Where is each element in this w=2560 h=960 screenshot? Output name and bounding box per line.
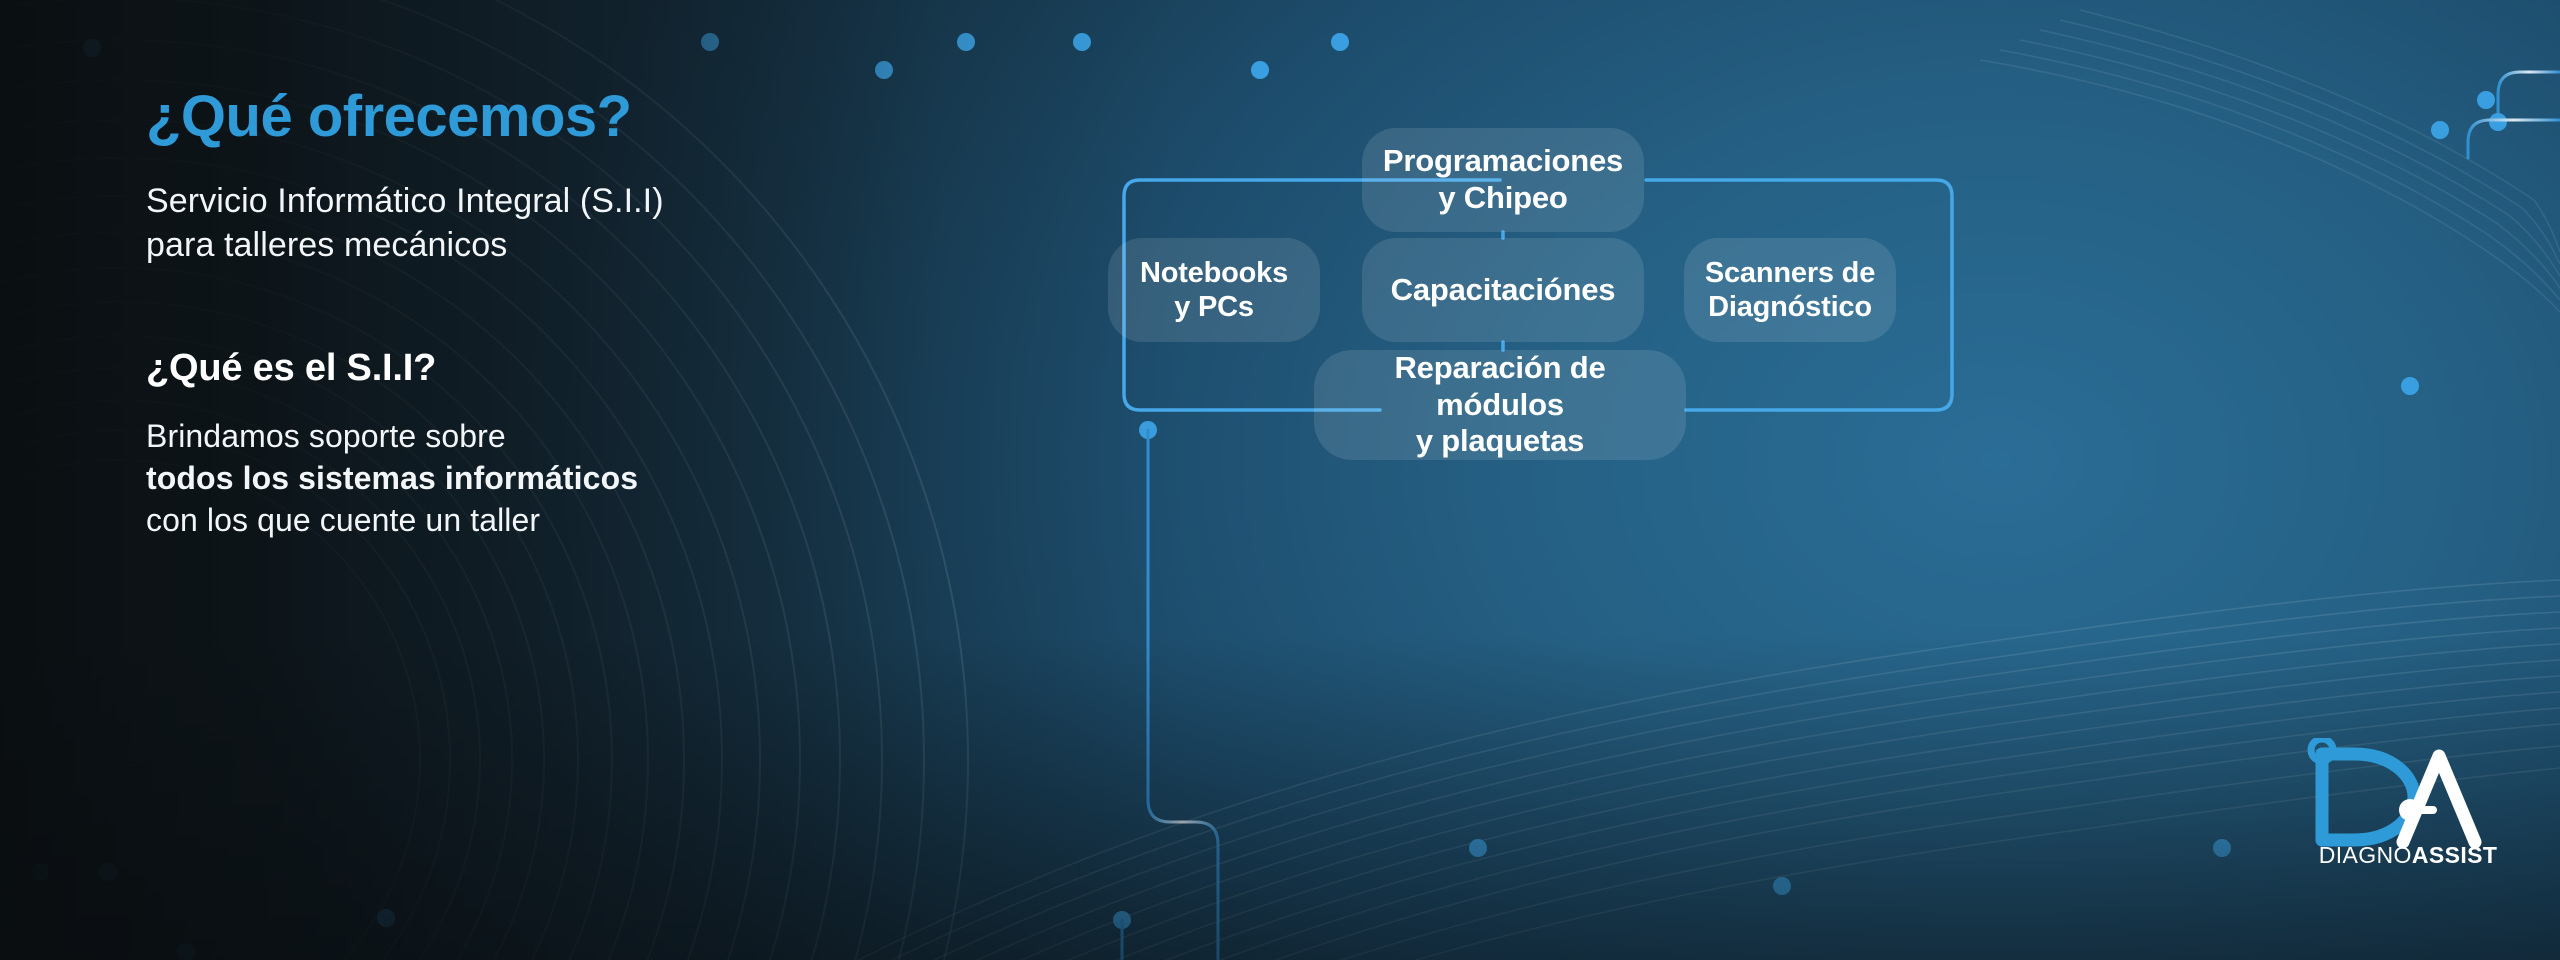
logo-wordmark-bold: ASSIST — [2412, 842, 2497, 868]
service-card-programaciones[interactable]: Programacionesy Chipeo — [1362, 128, 1644, 232]
service-card-label: Capacitaciónes — [1391, 272, 1616, 309]
body-line-3: con los que cuente un taller — [146, 502, 540, 538]
banner-canvas: ¿Qué ofrecemos? Servicio Informático Int… — [0, 0, 2560, 960]
logo-wordmark: DIAGNOASSIST — [2300, 842, 2516, 869]
service-card-label: Reparación de módulosy plaquetas — [1332, 350, 1668, 460]
heading-what-is-sii: ¿Qué es el S.I.I? — [146, 349, 886, 389]
copy-block: ¿Qué ofrecemos? Servicio Informático Int… — [146, 88, 886, 542]
services-diagram: Programacionesy Chipeo Notebooksy PCs Ca… — [1080, 110, 2500, 490]
service-card-notebooks[interactable]: Notebooksy PCs — [1108, 238, 1320, 342]
logo-mark-da-icon — [2300, 738, 2516, 848]
service-card-label: Programacionesy Chipeo — [1383, 143, 1623, 216]
body-line-1: Brindamos soporte sobre — [146, 418, 506, 454]
wave-texture-decoration — [820, 580, 2560, 960]
service-card-label: Scanners deDiagnóstico — [1705, 256, 1875, 324]
diagnoassist-logo: DIAGNOASSIST — [2300, 738, 2516, 888]
lead-paragraph: Servicio Informático Integral (S.I.I) pa… — [146, 180, 886, 267]
service-card-capacitaciones[interactable]: Capacitaciónes — [1362, 238, 1644, 342]
service-card-scanners[interactable]: Scanners deDiagnóstico — [1684, 238, 1896, 342]
logo-wordmark-light: DIAGNO — [2319, 842, 2412, 868]
body-paragraph: Brindamos soporte sobre todos los sistem… — [146, 415, 886, 542]
bottom-shadow-overlay — [0, 634, 2560, 960]
lead-line-1: Servicio Informático Integral (S.I.I) — [146, 182, 664, 220]
lead-line-2: para talleres mecánicos — [146, 226, 507, 264]
body-line-2-emphasis: todos los sistemas informáticos — [146, 460, 638, 496]
service-card-reparacion[interactable]: Reparación de módulosy plaquetas — [1314, 350, 1686, 460]
service-card-label: Notebooksy PCs — [1140, 256, 1288, 324]
heading-what-we-offer: ¿Qué ofrecemos? — [146, 88, 886, 146]
